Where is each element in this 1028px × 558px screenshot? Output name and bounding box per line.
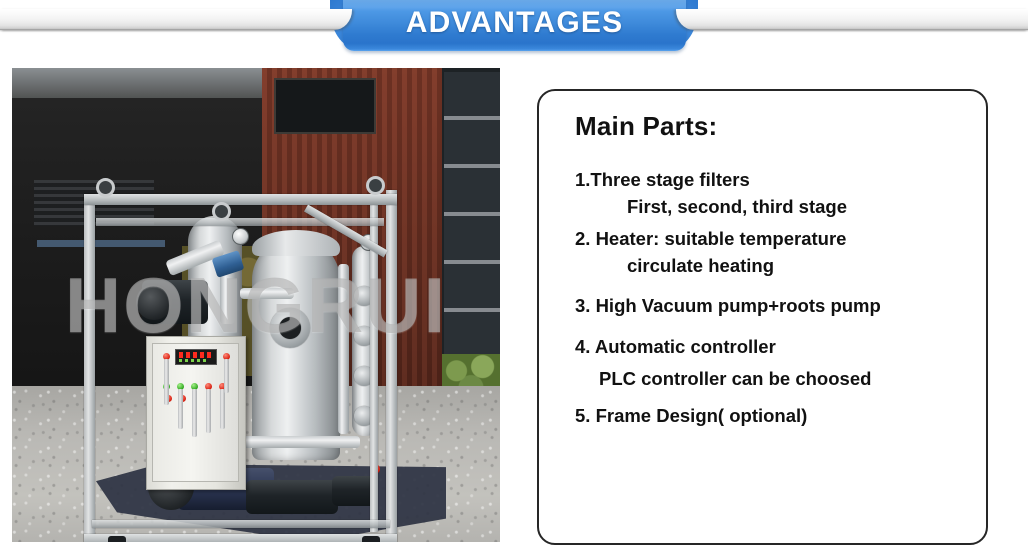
- roots-pump-body: [246, 480, 338, 514]
- product-photo-canvas: HONGRUI: [12, 68, 500, 542]
- panel-switch-3[interactable]: [192, 389, 197, 437]
- frame-post-left: [84, 194, 95, 542]
- frame-post-right: [386, 190, 397, 542]
- part-line-2-sub: circulate heating: [575, 257, 970, 276]
- part-line-1-sub: First, second, third stage: [575, 198, 970, 217]
- part-line-1: 1.Three stage filters: [575, 171, 970, 190]
- lifting-lug-left: [96, 178, 115, 197]
- product-photo: HONGRUI: [12, 68, 500, 542]
- frame-rail-top: [84, 194, 397, 205]
- frame-rail-skid: [92, 520, 390, 528]
- frame-rail-bottom: [84, 534, 397, 542]
- panel-switch-1[interactable]: [164, 359, 169, 405]
- advantages-header-ribbon: ADVANTAGES: [0, 0, 1028, 58]
- advantages-banner: ADVANTAGES: [343, 0, 686, 51]
- panel-switch-4[interactable]: [206, 389, 211, 433]
- cross-pipe-mid: [240, 288, 294, 299]
- caster-bracket-right: [362, 536, 380, 542]
- part-line-4: 4. Automatic controller: [575, 338, 970, 357]
- oil-purifier-machine: [70, 168, 400, 542]
- panel-switch-6[interactable]: [224, 359, 229, 393]
- degassing-tank-main: [252, 238, 340, 460]
- main-parts-title: Main Parts:: [575, 111, 717, 142]
- display-red-digits: [179, 352, 211, 358]
- control-panel-digital-display: [175, 349, 217, 365]
- tank-cap-main: [252, 230, 340, 256]
- caster-bracket-left: [108, 536, 126, 542]
- downcomer-pipe: [338, 264, 349, 434]
- main-parts-card: Main Parts: 1.Three stage filters First,…: [537, 89, 988, 545]
- panel-switch-2[interactable]: [178, 389, 183, 429]
- banner-title: ADVANTAGES: [343, 0, 686, 46]
- control-cabinet[interactable]: [146, 336, 246, 490]
- lifting-lug-mid: [212, 202, 231, 221]
- tank-inspection-port-inner: [279, 317, 301, 339]
- photo-right-building-windows: [444, 72, 500, 394]
- lifting-lug-right: [366, 176, 385, 195]
- part-line-3: 3. High Vacuum pump+roots pump: [575, 297, 970, 316]
- blower-fan-cowl: [136, 284, 172, 320]
- main-parts-list: 1.Three stage filters First, second, thi…: [575, 171, 970, 425]
- part-line-4-sub: PLC controller can be choosed: [575, 370, 970, 389]
- pressure-gauge-mid: [232, 228, 249, 245]
- display-green-digits: [179, 359, 209, 362]
- photo-window: [274, 78, 376, 134]
- part-line-5: 5. Frame Design( optional): [575, 407, 970, 426]
- panel-switch-5[interactable]: [220, 389, 225, 429]
- part-line-2: 2. Heater: suitable temperature: [575, 230, 970, 249]
